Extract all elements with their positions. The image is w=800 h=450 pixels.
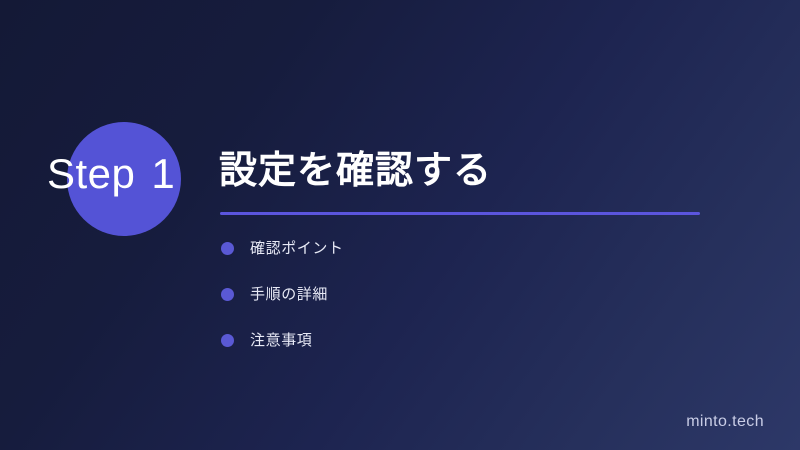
list-item: 確認ポイント: [221, 241, 344, 255]
list-item: 注意事項: [221, 333, 344, 347]
list-item: 手順の詳細: [221, 287, 344, 301]
page-title: 設定を確認する: [219, 148, 492, 194]
list-item-label: 確認ポイント: [250, 241, 344, 256]
step-word: Step: [47, 150, 135, 197]
slide-canvas: Step1 設定を確認する 確認ポイント 手順の詳細 注意事項 minto.te…: [0, 0, 800, 450]
bullet-dot-icon: [221, 334, 234, 347]
footer-brand: minto.tech: [686, 413, 764, 431]
list-item-label: 手順の詳細: [250, 287, 328, 302]
step-number: 1: [151, 150, 175, 197]
bullet-dot-icon: [221, 242, 234, 255]
step-label: Step1: [47, 152, 175, 196]
list-item-label: 注意事項: [250, 333, 312, 348]
title-divider: [220, 212, 700, 215]
bullet-dot-icon: [221, 288, 234, 301]
bullet-list: 確認ポイント 手順の詳細 注意事項: [221, 241, 344, 347]
